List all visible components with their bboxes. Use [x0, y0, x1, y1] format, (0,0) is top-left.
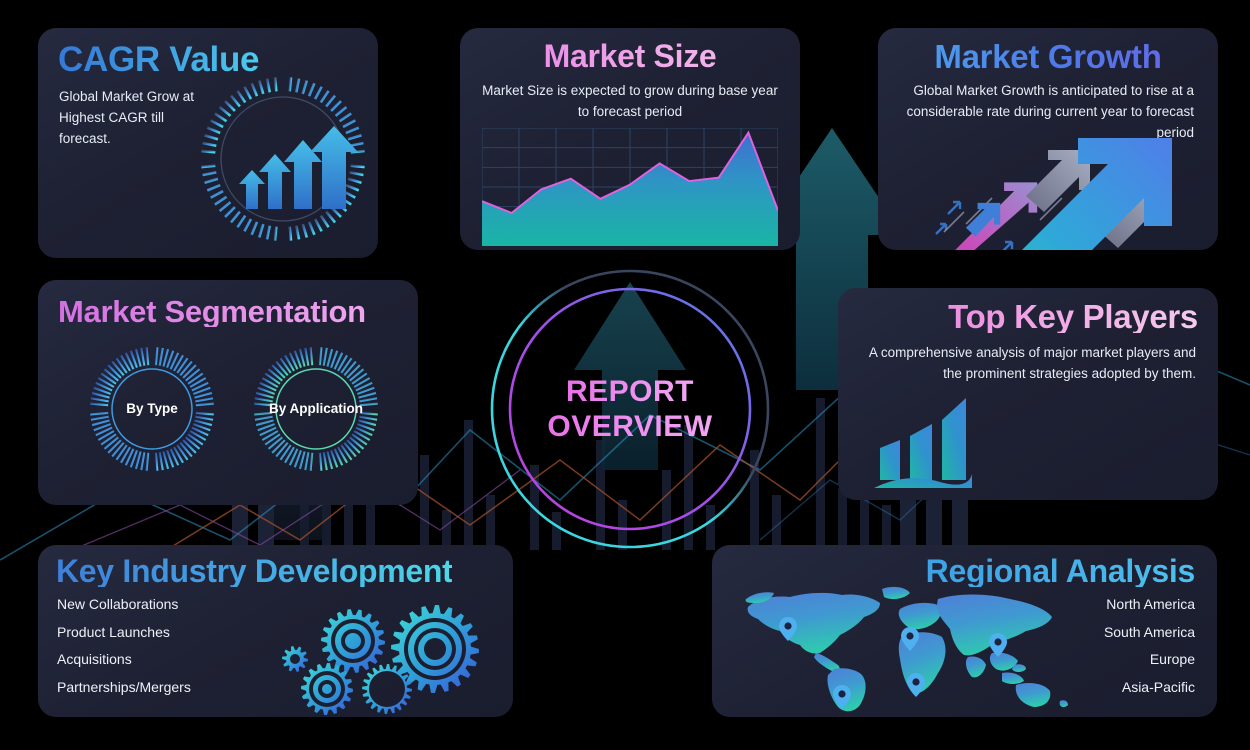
world-map-icon [730, 573, 1075, 713]
ascending-arrows [239, 126, 358, 209]
bars [874, 398, 972, 488]
segmentation-donut-by-application: By Application [250, 343, 382, 475]
card-top-key-players: Top Key Players A comprehensive analysis… [838, 288, 1218, 500]
market-growth-title: Market Growth [878, 40, 1218, 73]
infographic-canvas: CAGR Value Global Market Grow at Highest… [0, 0, 1250, 750]
key-industry-development-list: New Collaborations Product Launches Acqu… [57, 597, 191, 707]
top-key-players-description: A comprehensive analysis of major market… [838, 342, 1218, 384]
regional-analysis-list: North America South America Europe Asia-… [1104, 597, 1195, 707]
market-segmentation-title: Market Segmentation [58, 296, 366, 327]
list-item: New Collaborations [57, 597, 191, 611]
market-size-description: Market Size is expected to grow during b… [460, 80, 800, 122]
card-market-segmentation: Market Segmentation By Type [38, 280, 418, 505]
report-overview-label: REPORT OVERVIEW [487, 266, 773, 552]
list-item: Product Launches [57, 625, 191, 639]
list-item: Partnerships/Mergers [57, 680, 191, 694]
top-key-players-title: Top Key Players [838, 300, 1218, 333]
report-overview-line2: OVERVIEW [547, 411, 712, 443]
card-cagr-value: CAGR Value Global Market Grow at Highest… [38, 28, 378, 258]
list-item: North America [1104, 597, 1195, 611]
bar-chart-icon [870, 392, 1020, 492]
report-overview-line1: REPORT [566, 376, 694, 408]
growth-arrows-gauge-icon [198, 74, 368, 244]
continents [746, 587, 1068, 711]
market-size-title: Market Size [460, 40, 800, 72]
card-market-growth: Market Growth Global Market Growth is an… [878, 28, 1218, 250]
cagr-title: CAGR Value [58, 42, 259, 77]
card-market-size: Market Size Market Size is expected to g… [460, 28, 800, 250]
cagr-description: Global Market Grow at Highest CAGR till … [59, 86, 209, 149]
list-item: South America [1104, 625, 1195, 639]
card-key-industry-development: Key Industry Development New Collaborati… [38, 545, 513, 717]
donut-label-by-application: By Application [250, 343, 382, 475]
donut-label-by-type: By Type [86, 343, 218, 475]
area-chart-icon [482, 128, 778, 246]
list-item: Europe [1104, 652, 1195, 666]
key-industry-development-title: Key Industry Development [56, 555, 452, 587]
report-overview-badge: REPORT OVERVIEW [487, 266, 773, 552]
segmentation-donut-by-type: By Type [86, 343, 218, 475]
card-regional-analysis: Regional Analysis North America South Am… [712, 545, 1217, 717]
list-item: Asia-Pacific [1104, 680, 1195, 694]
list-item: Acquisitions [57, 652, 191, 666]
gears-icon [275, 597, 505, 715]
market-growth-description: Global Market Growth is anticipated to r… [878, 80, 1218, 143]
diagonal-arrows-icon [930, 136, 1218, 250]
